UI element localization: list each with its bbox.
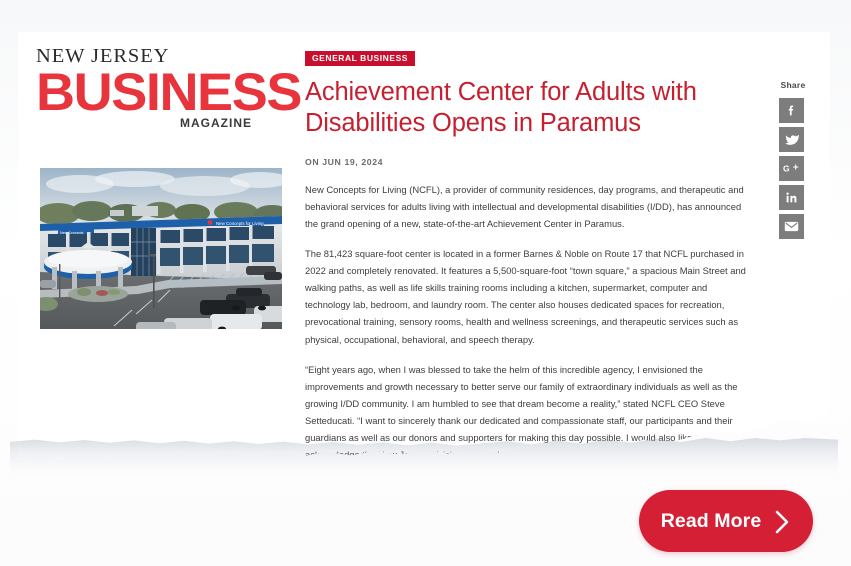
- share-button-linkedin[interactable]: [779, 185, 804, 210]
- read-more-label: Read More: [661, 510, 762, 533]
- share-button-google-plus[interactable]: G: [779, 156, 804, 181]
- article-body: New Concepts for Living (NCFL), a provid…: [305, 181, 753, 481]
- facebook-icon: [785, 104, 798, 117]
- svg-text:New Concepts for Living: New Concepts for Living: [216, 221, 264, 226]
- twitter-icon: [785, 133, 799, 147]
- article-headline[interactable]: Achievement Center for Adults with Disab…: [305, 77, 753, 140]
- share-label: Share: [779, 80, 807, 90]
- masthead-line-business: BUSINESS: [36, 68, 256, 119]
- linkedin-icon: [785, 191, 798, 204]
- google-plus-icon: G: [783, 162, 800, 175]
- share-rail: Share G: [779, 80, 807, 243]
- article-content: GENERAL BUSINESS Achievement Center for …: [305, 48, 753, 480]
- share-button-facebook[interactable]: [779, 98, 804, 123]
- building-photo-illustration: New Concepts for Living New Concepts: [40, 168, 282, 329]
- share-button-email[interactable]: [779, 214, 804, 239]
- article-paragraph: New Concepts for Living (NCFL), a provid…: [305, 181, 753, 232]
- chevron-right-icon: [774, 509, 791, 535]
- masthead-block: NEW JERSEY BUSINESS MAGAZINE: [36, 46, 252, 130]
- read-more-button[interactable]: Read More: [639, 490, 813, 552]
- article-paragraph: The 81,423 square-foot center is located…: [305, 245, 753, 348]
- email-icon: [784, 221, 799, 232]
- category-badge[interactable]: GENERAL BUSINESS: [305, 51, 415, 66]
- masthead-logo[interactable]: NEW JERSEY BUSINESS MAGAZINE: [36, 46, 286, 130]
- article-card: NEW JERSEY BUSINESS MAGAZINE: [18, 32, 830, 464]
- article-photo: New Concepts for Living New Concepts: [40, 168, 282, 329]
- svg-text:G: G: [783, 163, 790, 173]
- share-button-twitter[interactable]: [779, 127, 804, 152]
- article-dateline: ON JUN 19, 2024: [305, 157, 753, 167]
